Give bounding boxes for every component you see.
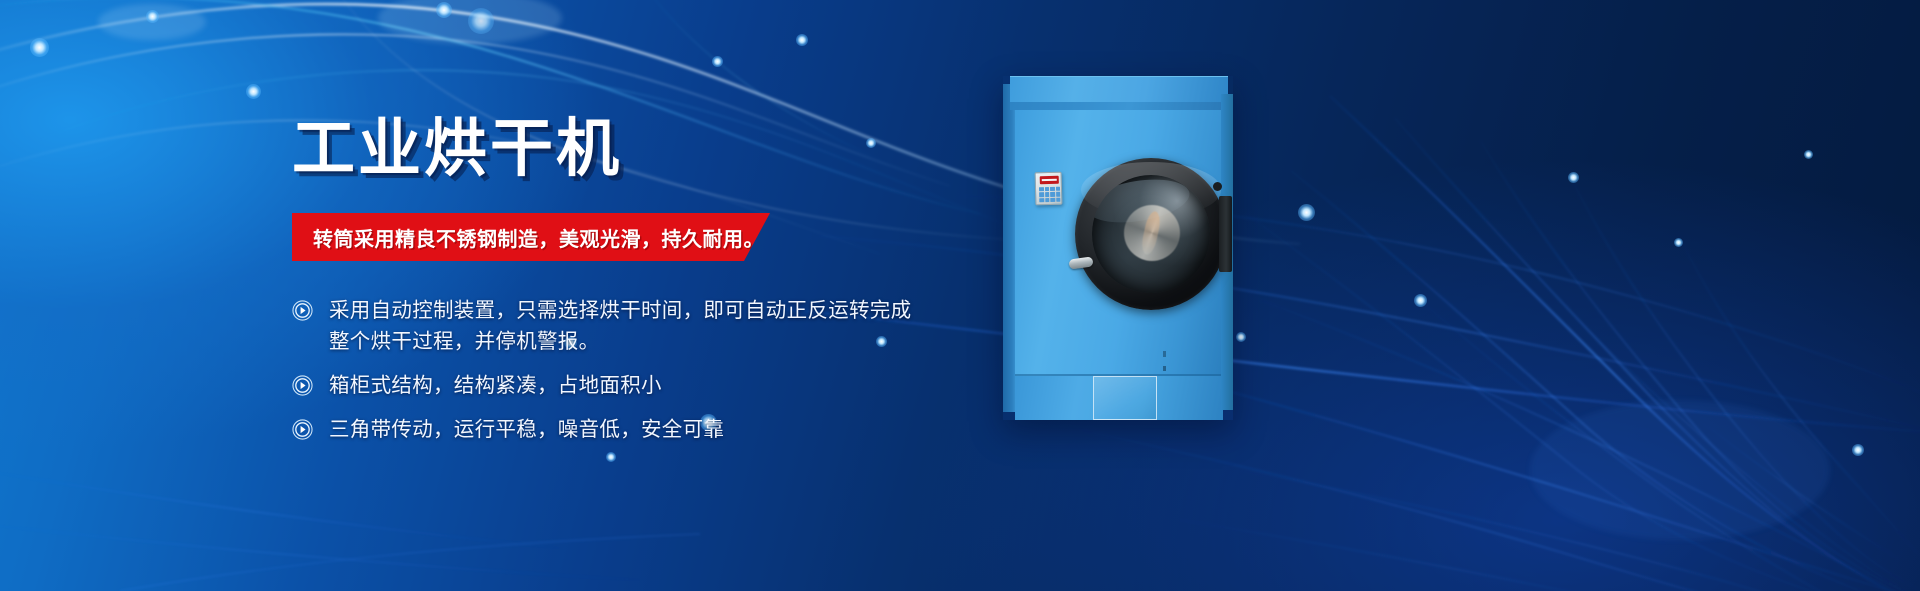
- list-item-label: 采用自动控制装置，只需选择烘干时间，即可自动正反运转完成 整个烘干过程，并停机警…: [329, 295, 911, 357]
- tagline-text: 转筒采用精良不锈钢制造，美观光滑，持久耐用。: [292, 223, 764, 252]
- feature-list: 采用自动控制装置，只需选择烘干时间，即可自动正反运转完成 整个烘干过程，并停机警…: [292, 295, 992, 445]
- chevron-circle-right-icon: [292, 419, 313, 440]
- product-hero-banner: 工业烘干机 转筒采用精良不锈钢制造，美观光滑，持久耐用。 采用自动控制装置，只需…: [0, 0, 1920, 591]
- chevron-circle-right-icon: [292, 300, 313, 321]
- list-item-label: 三角带传动，运行平稳，噪音低，安全可靠: [329, 414, 724, 445]
- machine-top-cap: [1010, 76, 1228, 102]
- machine-top-seam: [1010, 102, 1228, 110]
- control-panel-keypad[interactable]: [1039, 187, 1060, 203]
- machine-control-panel[interactable]: [1035, 172, 1063, 206]
- machine-access-hatch[interactable]: [1093, 376, 1157, 420]
- machine-screw: [1163, 351, 1166, 357]
- control-panel-display: [1040, 176, 1059, 184]
- list-item: 采用自动控制装置，只需选择烘干时间，即可自动正反运转完成 整个烘干过程，并停机警…: [292, 295, 992, 357]
- page-title: 工业烘干机: [292, 118, 992, 181]
- hero-copy-column: 工业烘干机 转筒采用精良不锈钢制造，美观光滑，持久耐用。 采用自动控制装置，只需…: [292, 118, 992, 458]
- list-item: 箱柜式结构，结构紧凑，占地面积小: [292, 370, 992, 401]
- machine-screw: [1163, 366, 1166, 371]
- tagline-red-ribbon: 转筒采用精良不锈钢制造，美观光滑，持久耐用。: [292, 213, 770, 261]
- machine-hinge-bolt: [1213, 182, 1222, 191]
- list-item-label: 箱柜式结构，结构紧凑，占地面积小: [329, 370, 662, 401]
- machine-door-hinge: [1219, 196, 1232, 272]
- product-image-industrial-dryer: [1003, 76, 1233, 420]
- list-item: 三角带传动，运行平稳，噪音低，安全可靠: [292, 414, 992, 445]
- machine-door-glass: [1092, 175, 1210, 293]
- tagline-banner: 转筒采用精良不锈钢制造，美观光滑，持久耐用。: [292, 213, 770, 261]
- chevron-circle-right-icon: [292, 375, 313, 396]
